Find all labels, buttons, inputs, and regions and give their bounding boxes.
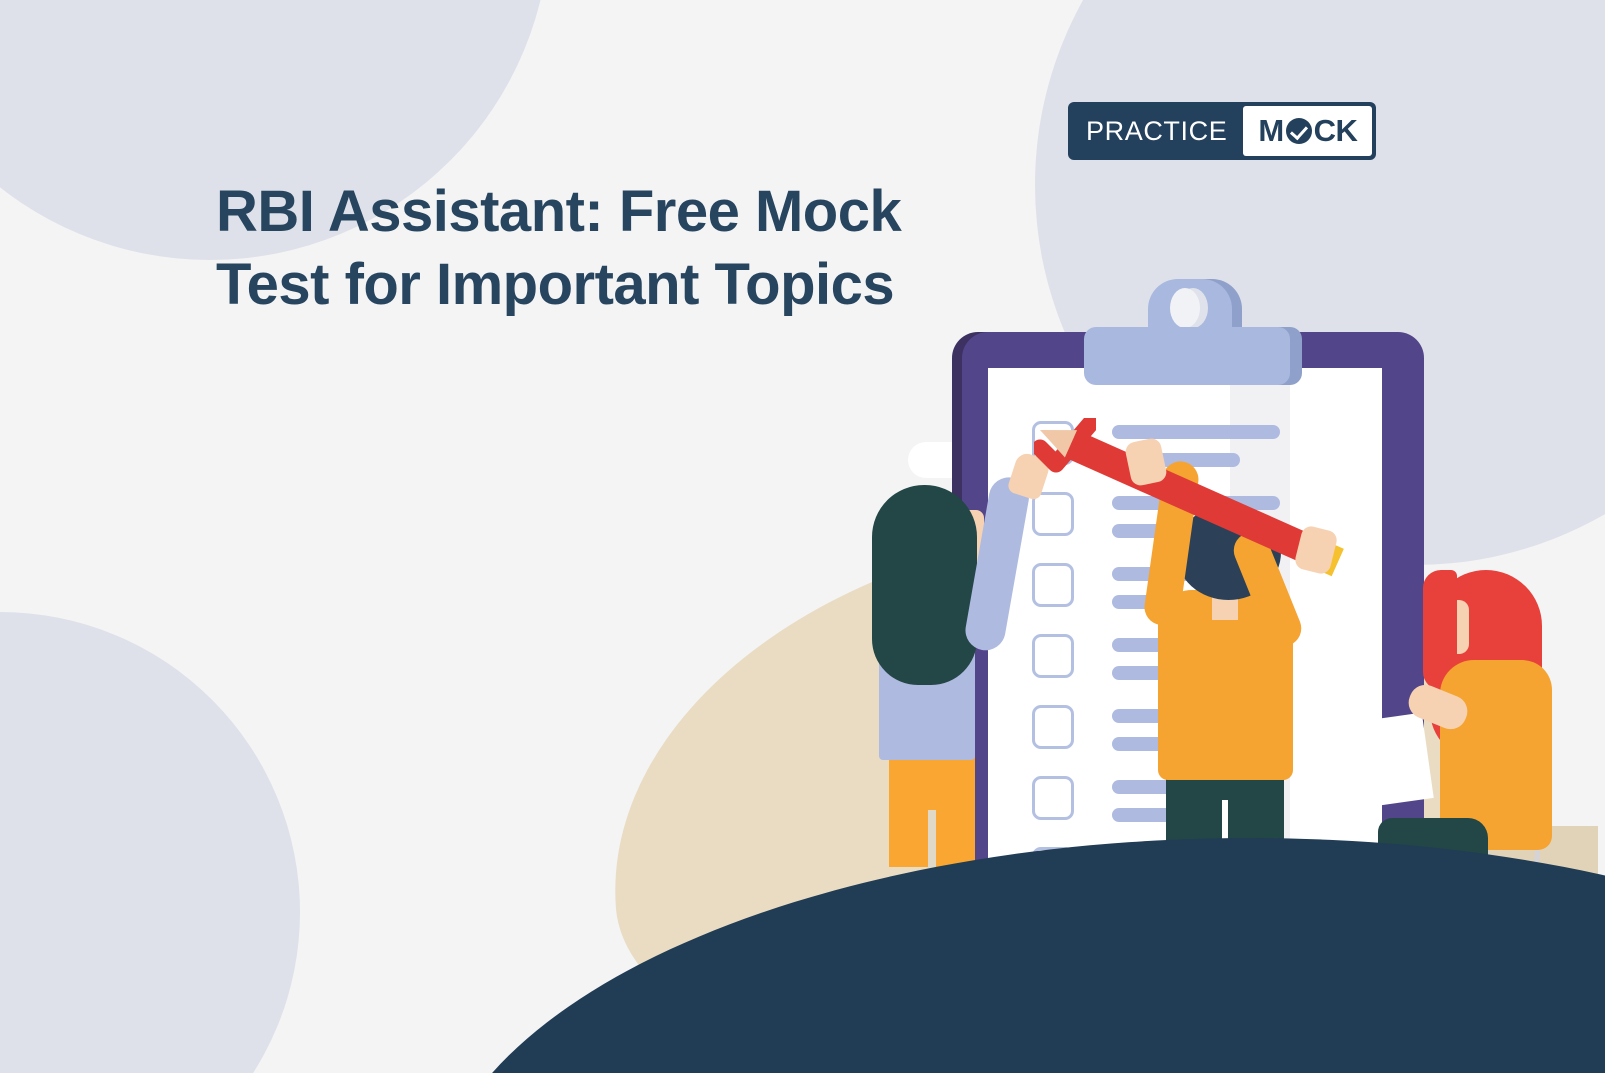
practicemock-logo[interactable]: PRACTICE M CK: [1068, 102, 1376, 160]
logo-word-mock: M CK: [1243, 106, 1372, 156]
checklist-checkbox[interactable]: [1032, 705, 1074, 749]
page-title: RBI Assistant: Free Mock Test for Import…: [216, 175, 976, 321]
clipboard-clip-hole: [1170, 288, 1200, 328]
checklist-text-line: [1112, 425, 1280, 439]
check-circle-icon: [1286, 118, 1312, 144]
person-standing-left-leg-gap: [928, 810, 936, 868]
marketing-banner: RBI Assistant: Free Mock Test for Import…: [0, 0, 1605, 1073]
logo-word-practice: PRACTICE: [1072, 106, 1243, 156]
checklist-checkbox[interactable]: [1032, 492, 1074, 536]
checklist-checkbox[interactable]: [1032, 563, 1074, 607]
clipboard-clip-base: [1084, 327, 1290, 385]
checklist-checkbox[interactable]: [1032, 776, 1074, 820]
logo-mock-letter-m: M: [1258, 113, 1283, 149]
logo-mock-letters-ck: CK: [1314, 113, 1358, 149]
person-standing-left-hair: [872, 485, 977, 685]
checklist-checkbox[interactable]: [1032, 634, 1074, 678]
